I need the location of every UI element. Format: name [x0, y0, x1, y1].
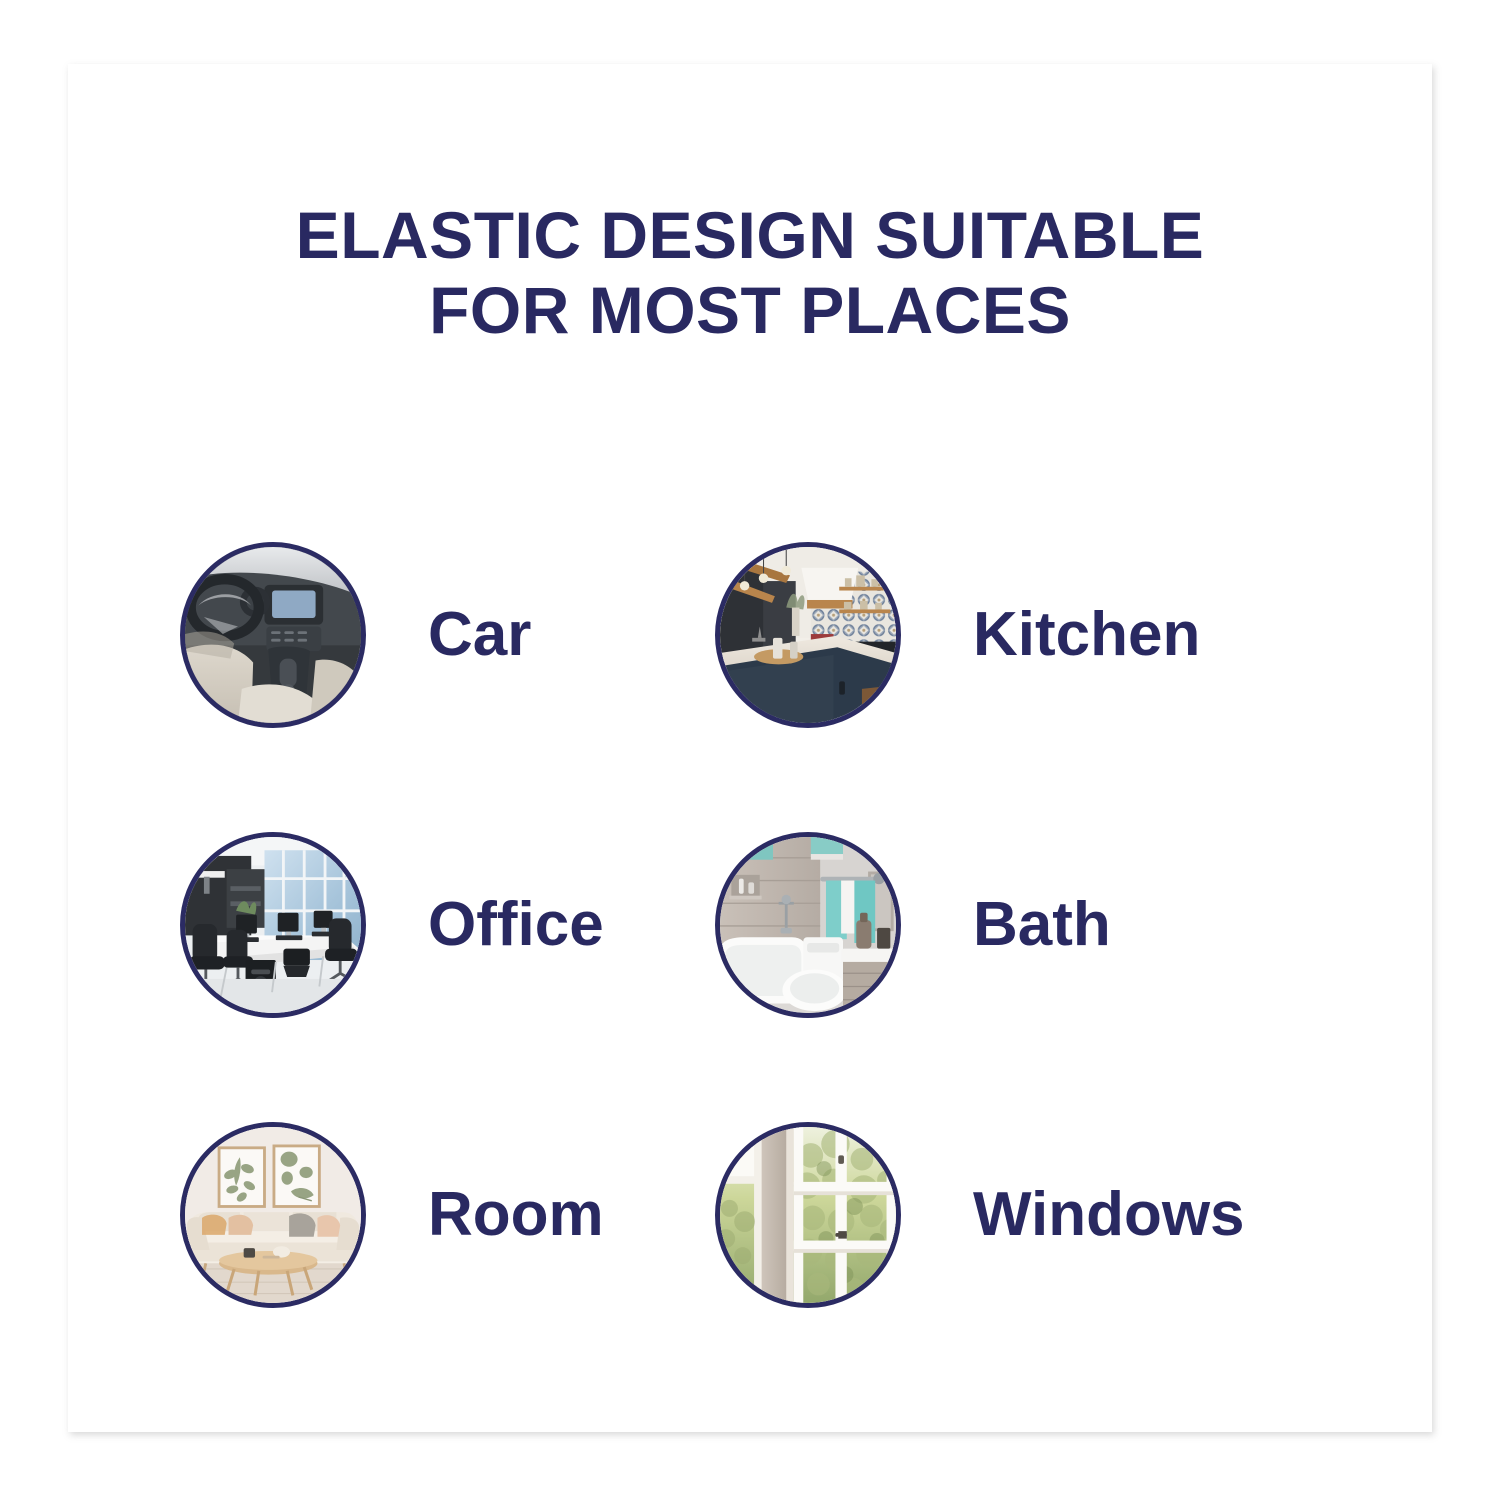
place-item-kitchen: Kitchen	[715, 490, 1250, 780]
place-label: Bath	[973, 894, 1111, 956]
places-row: Room	[180, 1070, 1360, 1360]
office-photo	[180, 832, 366, 1018]
place-item-windows: Windows	[715, 1070, 1250, 1360]
kitchen-photo	[715, 542, 901, 728]
car-interior-photo	[180, 542, 366, 728]
page-title: ELASTIC DESIGN SUITABLE FOR MOST PLACES	[130, 198, 1370, 347]
bathroom-photo	[715, 832, 901, 1018]
place-label: Office	[428, 894, 604, 956]
places-row: Office	[180, 780, 1360, 1070]
place-label: Room	[428, 1184, 604, 1246]
place-label: Windows	[973, 1184, 1245, 1246]
places-grid: Car	[180, 490, 1360, 1360]
page-title-line-2: FOR MOST PLACES	[130, 273, 1370, 348]
living-room-photo	[180, 1122, 366, 1308]
place-label: Kitchen	[973, 604, 1200, 666]
place-item-car: Car	[180, 490, 715, 780]
page-title-line-1: ELASTIC DESIGN SUITABLE	[296, 198, 1205, 272]
place-item-room: Room	[180, 1070, 715, 1360]
place-item-bath: Bath	[715, 780, 1250, 1070]
infographic-page: ELASTIC DESIGN SUITABLE FOR MOST PLACES	[0, 0, 1500, 1500]
place-item-office: Office	[180, 780, 715, 1070]
window-photo	[715, 1122, 901, 1308]
place-label: Car	[428, 604, 531, 666]
places-row: Car	[180, 490, 1360, 780]
